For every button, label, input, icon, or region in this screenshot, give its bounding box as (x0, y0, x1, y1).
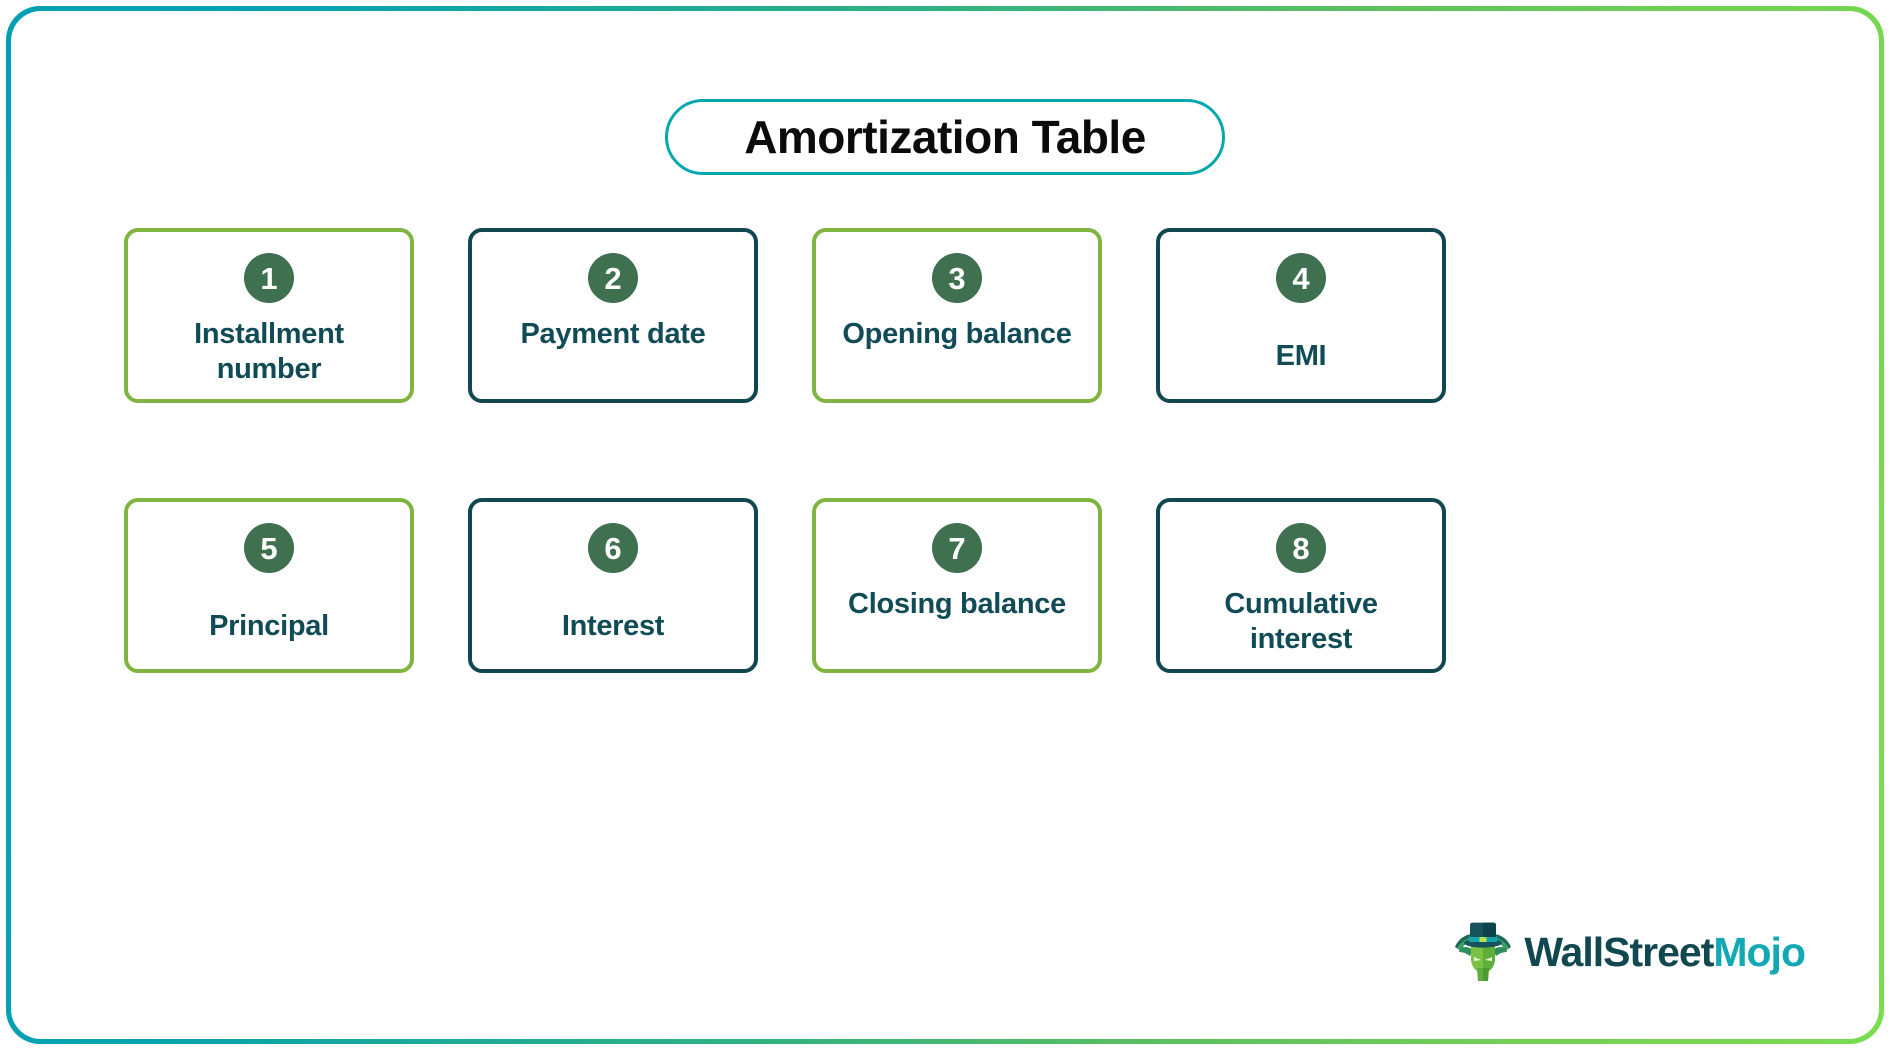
wallstreetmojo-logo[interactable]: WallStreetMojo (1452, 921, 1805, 983)
step-label-7: Closing balance (832, 587, 1082, 622)
step-number-badge-3: 3 (932, 253, 982, 303)
step-label-5: Principal (144, 609, 394, 644)
step-number-badge-5: 5 (244, 523, 294, 573)
infographic-frame: Amortization Table 1 Installment number … (6, 6, 1884, 1044)
step-label-4: EMI (1176, 339, 1426, 374)
step-number-badge-1: 1 (244, 253, 294, 303)
step-label-8: Cumulative interest (1176, 587, 1426, 658)
step-number-badge-4: 4 (1276, 253, 1326, 303)
step-number-badge-8: 8 (1276, 523, 1326, 573)
step-card-1[interactable]: 1 Installment number (124, 228, 414, 403)
page-title: Amortization Table (744, 110, 1146, 164)
infographic-canvas: Amortization Table 1 Installment number … (11, 11, 1879, 1039)
step-card-3[interactable]: 3 Opening balance (812, 228, 1102, 403)
step-card-7[interactable]: 7 Closing balance (812, 498, 1102, 673)
brand-name-part1: WallStreet (1524, 929, 1713, 975)
step-number-badge-7: 7 (932, 523, 982, 573)
step-card-5[interactable]: 5 Principal (124, 498, 414, 673)
step-label-6: Interest (488, 609, 738, 644)
bull-mascot-icon (1452, 921, 1514, 983)
step-number-badge-2: 2 (588, 253, 638, 303)
step-card-4[interactable]: 4 EMI (1156, 228, 1446, 403)
step-card-6[interactable]: 6 Interest (468, 498, 758, 673)
page-title-pill: Amortization Table (665, 99, 1225, 175)
step-label-3: Opening balance (832, 317, 1082, 352)
brand-name-part2: Mojo (1713, 929, 1805, 975)
step-card-8[interactable]: 8 Cumulative interest (1156, 498, 1446, 673)
step-label-1: Installment number (144, 317, 394, 388)
amortization-components-grid: 1 Installment number 2 Payment date 3 Op… (124, 228, 1754, 673)
step-card-2[interactable]: 2 Payment date (468, 228, 758, 403)
step-label-2: Payment date (488, 317, 738, 352)
brand-wordmark: WallStreetMojo (1524, 932, 1805, 973)
step-number-badge-6: 6 (588, 523, 638, 573)
